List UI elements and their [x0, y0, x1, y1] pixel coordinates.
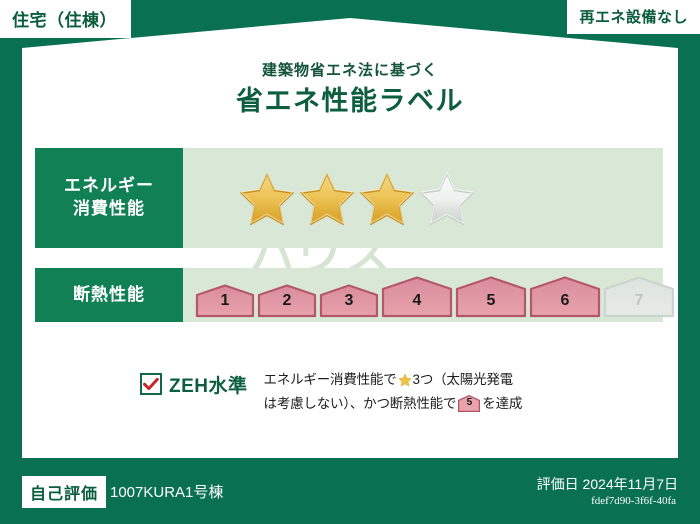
insulation-badge-value: 2	[283, 293, 292, 318]
title-block: 建築物省エネ法に基づく 省エネ性能ラベル	[0, 62, 700, 117]
zeh-description: エネルギー消費性能で3つ（太陽光発電は考慮しない）、かつ断熱性能で5を達成	[264, 370, 523, 415]
zeh-standard-row: ZEH水準 エネルギー消費性能で3つ（太陽光発電は考慮しない）、かつ断熱性能で5…	[140, 370, 522, 415]
zeh-desc-stars: 3つ（太陽光発電	[413, 372, 513, 387]
insulation-badge-1: 1	[195, 284, 255, 318]
insulation-badge-value: 5	[487, 293, 496, 318]
insulation-badge-value: 4	[413, 293, 422, 318]
insulation-badge-value: 3	[345, 293, 354, 318]
energy-label-line2: 消費性能	[73, 198, 145, 221]
mini-star-icon	[398, 373, 412, 394]
building-type-tag: 住宅（住棟）	[0, 0, 131, 38]
mini-badge-value: 5	[458, 395, 480, 411]
zeh-checkbox[interactable]	[140, 373, 162, 395]
zeh-desc-part1: エネルギー消費性能で	[264, 372, 397, 387]
title-subtitle: 建築物省エネ法に基づく	[0, 62, 700, 80]
energy-performance-label: 住宅（住棟） 再エネ設備なし 建築物省エネ法に基づく 省エネ性能ラベル ハウス …	[0, 0, 700, 524]
evaluation-type-badge: 自己評価	[22, 476, 106, 508]
page-title: 省エネ性能ラベル	[0, 86, 700, 117]
evaluation-date: 評価日 2024年11月7日	[537, 474, 678, 494]
insulation-scale: 1234567	[183, 268, 663, 322]
evaluation-id: fdef7d90-3f6f-40fa	[591, 495, 676, 507]
energy-performance-row: エネルギー 消費性能	[35, 148, 663, 248]
insulation-badge-2: 2	[257, 284, 317, 318]
energy-performance-label: エネルギー 消費性能	[35, 148, 183, 248]
building-name: 1007KURA1号棟	[110, 481, 223, 502]
star-empty-icon	[419, 171, 475, 225]
insulation-badge-6: 6	[529, 276, 601, 318]
insulation-badge-strip: 1234567	[195, 272, 677, 318]
insulation-badge-4: 4	[381, 276, 453, 318]
star-filled-icon	[299, 171, 355, 225]
insulation-badge-3: 3	[319, 284, 379, 318]
star-filled-icon	[359, 171, 415, 225]
zeh-desc-line2b: を達成	[482, 396, 522, 411]
star-rating	[183, 148, 663, 248]
insulation-performance-label: 断熱性能	[35, 268, 183, 322]
zeh-desc-line2a: は考慮しない）、かつ断熱性能で	[264, 396, 457, 411]
check-icon	[143, 378, 159, 391]
insulation-badge-value: 7	[635, 293, 644, 318]
insulation-badge-5: 5	[455, 276, 527, 318]
zeh-standard-label: ZEH水準	[169, 371, 248, 398]
insulation-label-line1: 断熱性能	[73, 284, 145, 307]
energy-label-line1: エネルギー	[64, 175, 154, 198]
insulation-badge-7: 7	[603, 276, 675, 318]
insulation-badge-value: 6	[561, 293, 570, 318]
renewable-energy-tag: 再エネ設備なし	[567, 0, 700, 34]
mini-insulation-badge: 5	[458, 395, 480, 412]
insulation-performance-row: 断熱性能 1234567	[35, 268, 663, 322]
star-filled-icon	[239, 171, 295, 225]
insulation-badge-value: 1	[221, 293, 230, 318]
footer-bar: 自己評価 1007KURA1号棟 評価日 2024年11月7日 fdef7d90…	[0, 462, 700, 524]
